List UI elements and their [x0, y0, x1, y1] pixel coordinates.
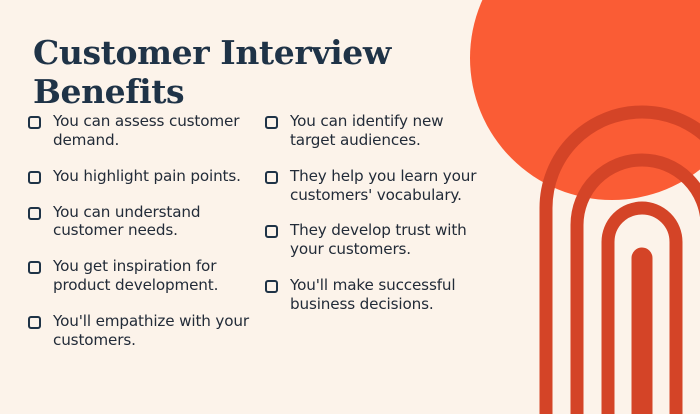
- checkbox-icon[interactable]: [28, 116, 41, 129]
- checkbox-icon[interactable]: [265, 116, 278, 129]
- list-item[interactable]: You can understand customer needs.: [28, 203, 265, 241]
- list-item[interactable]: They develop trust with your customers.: [265, 221, 525, 259]
- list-item-label: They help you learn your customers' voca…: [290, 167, 490, 205]
- list-item[interactable]: You'll make successful business decision…: [265, 276, 525, 314]
- benefits-column-right: You can identify new target audiences. T…: [265, 112, 525, 367]
- checkbox-icon[interactable]: [28, 316, 41, 329]
- list-item[interactable]: You can identify new target audiences.: [265, 112, 525, 150]
- list-item-label: You can understand customer needs.: [53, 203, 258, 241]
- benefits-columns: You can assess customer demand. You high…: [0, 112, 540, 367]
- arc-2: [577, 160, 700, 414]
- checkbox-icon[interactable]: [265, 171, 278, 184]
- list-item-label: You get inspiration for product developm…: [53, 257, 258, 295]
- list-item-label: You can identify new target audiences.: [290, 112, 490, 150]
- checkbox-icon[interactable]: [28, 171, 41, 184]
- list-item[interactable]: You get inspiration for product developm…: [28, 257, 265, 295]
- list-item-label: You can assess customer demand.: [53, 112, 258, 150]
- list-item[interactable]: You highlight pain points.: [28, 167, 265, 186]
- checkbox-icon[interactable]: [28, 261, 41, 274]
- list-item[interactable]: You'll empathize with your customers.: [28, 312, 265, 350]
- list-item-label: You'll empathize with your customers.: [53, 312, 258, 350]
- slide-canvas: Customer Interview Benefits You can asse…: [0, 0, 700, 414]
- list-item[interactable]: They help you learn your customers' voca…: [265, 167, 525, 205]
- arc-4: [638, 254, 646, 414]
- checkbox-icon[interactable]: [265, 280, 278, 293]
- page-title: Customer Interview Benefits: [33, 34, 453, 112]
- list-item-label: You highlight pain points.: [53, 167, 241, 186]
- list-item-label: They develop trust with your customers.: [290, 221, 490, 259]
- checkbox-icon[interactable]: [265, 225, 278, 238]
- checkbox-icon[interactable]: [28, 207, 41, 220]
- arc-3: [608, 208, 676, 414]
- list-item-label: You'll make successful business decision…: [290, 276, 490, 314]
- benefits-column-left: You can assess customer demand. You high…: [0, 112, 265, 367]
- arc-1: [546, 112, 700, 414]
- list-item[interactable]: You can assess customer demand.: [28, 112, 265, 150]
